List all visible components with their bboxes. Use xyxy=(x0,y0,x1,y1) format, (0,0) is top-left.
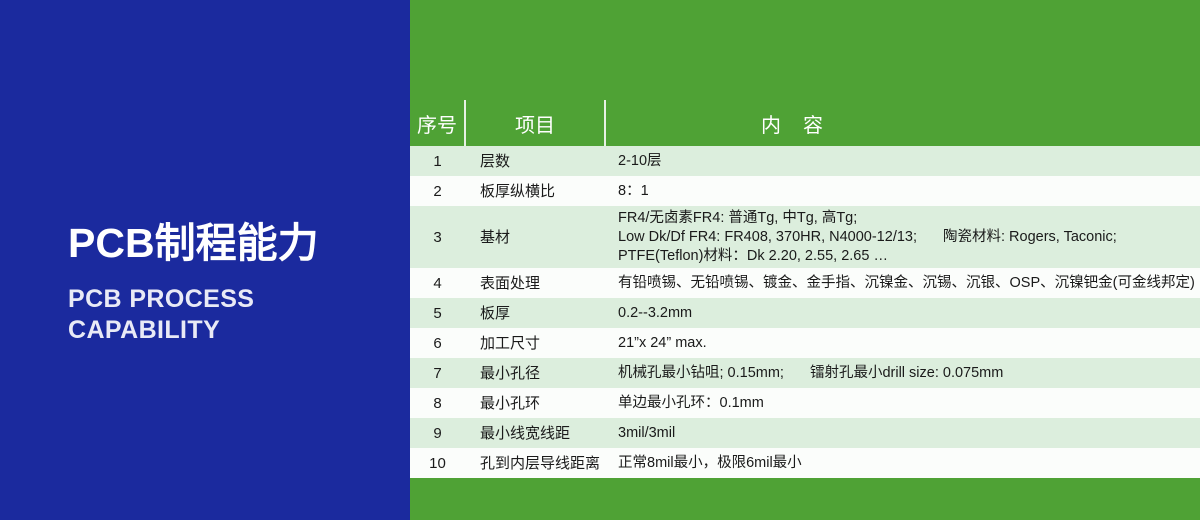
row-item: 基材 xyxy=(465,206,605,268)
row-no: 9 xyxy=(410,418,465,448)
row-content: 机械孔最小钻咀; 0.15mm;镭射孔最小drill size: 0.075mm xyxy=(605,358,1200,388)
row-no: 3 xyxy=(410,206,465,268)
title-block: PCB制程能力 PCB PROCESS CAPABILITY xyxy=(68,218,398,346)
row-content: 21”x 24” max. xyxy=(605,328,1200,358)
row-no: 7 xyxy=(410,358,465,388)
row-content-line: 陶瓷材料: Rogers, Taconic; xyxy=(943,229,1117,245)
row-item: 最小线宽线距 xyxy=(465,418,605,448)
spec-table: 序号 项目 内容 1 层数 2-10层 2 板厚纵横比 8：1 xyxy=(410,100,1200,478)
table-row: 6 加工尺寸 21”x 24” max. xyxy=(410,328,1200,358)
row-content-line: 21”x 24” max. xyxy=(618,334,1196,353)
row-content: 2-10层 xyxy=(605,146,1200,176)
row-content-line: 2-10层 xyxy=(618,152,1196,171)
row-item: 最小孔径 xyxy=(465,358,605,388)
column-header-no: 序号 xyxy=(410,100,465,146)
row-no: 2 xyxy=(410,176,465,206)
row-content-line: 3mil/3mil xyxy=(618,424,1196,443)
page-title-en: PCB PROCESS CAPABILITY xyxy=(68,284,398,346)
row-no: 10 xyxy=(410,448,465,478)
row-content-line: 镭射孔最小drill size: 0.075mm xyxy=(810,365,1003,381)
row-content: FR4/无卤素FR4: 普通Tg, 中Tg, 高Tg; Low Dk/Df FR… xyxy=(605,206,1200,268)
row-no: 6 xyxy=(410,328,465,358)
table-row: 2 板厚纵横比 8：1 xyxy=(410,176,1200,206)
row-content: 3mil/3mil xyxy=(605,418,1200,448)
table-row: 1 层数 2-10层 xyxy=(410,146,1200,176)
row-content-line: 有铅喷锡、无铅喷锡、镀金、金手指、沉镍金、沉锡、沉银、OSP、沉镍钯金(可金线邦… xyxy=(618,274,1196,293)
row-no: 8 xyxy=(410,388,465,418)
column-header-content: 内容 xyxy=(605,100,1200,146)
row-content-line: 8：1 xyxy=(618,182,1196,201)
table-row: 10 孔到内层导线距离 正常8mil最小，极限6mil最小 xyxy=(410,448,1200,478)
row-content-line-group: Low Dk/Df FR4: FR408, 370HR, N4000-12/13… xyxy=(618,228,1196,247)
row-content: 0.2--3.2mm xyxy=(605,298,1200,328)
table-row: 9 最小线宽线距 3mil/3mil xyxy=(410,418,1200,448)
page-title-en-line2: CAPABILITY xyxy=(68,315,398,346)
row-item: 表面处理 xyxy=(465,268,605,298)
row-content: 有铅喷锡、无铅喷锡、镀金、金手指、沉镍金、沉锡、沉银、OSP、沉镍钯金(可金线邦… xyxy=(605,268,1200,298)
row-content-line-group: 机械孔最小钻咀; 0.15mm;镭射孔最小drill size: 0.075mm xyxy=(618,364,1196,383)
table-row: 4 表面处理 有铅喷锡、无铅喷锡、镀金、金手指、沉镍金、沉锡、沉银、OSP、沉镍… xyxy=(410,268,1200,298)
row-content: 8：1 xyxy=(605,176,1200,206)
row-content-line: PTFE(Teflon)材料：Dk 2.20, 2.55, 2.65 … xyxy=(618,247,1196,266)
slide-root: PCB制程能力 PCB PROCESS CAPABILITY 序号 项目 内容 xyxy=(0,0,1200,520)
spec-table-wrapper: 序号 项目 内容 1 层数 2-10层 2 板厚纵横比 8：1 xyxy=(410,100,1200,478)
row-item: 板厚纵横比 xyxy=(465,176,605,206)
left-title-panel: PCB制程能力 PCB PROCESS CAPABILITY xyxy=(0,0,410,520)
spec-table-body: 1 层数 2-10层 2 板厚纵横比 8：1 3 基材 xyxy=(410,146,1200,478)
row-item: 最小孔环 xyxy=(465,388,605,418)
row-content-line: 单边最小孔环：0.1mm xyxy=(618,394,1196,413)
row-content: 正常8mil最小，极限6mil最小 xyxy=(605,448,1200,478)
table-row: 5 板厚 0.2--3.2mm xyxy=(410,298,1200,328)
row-no: 4 xyxy=(410,268,465,298)
page-title-cn: PCB制程能力 xyxy=(68,218,398,268)
row-item: 层数 xyxy=(465,146,605,176)
table-row: 8 最小孔环 单边最小孔环：0.1mm xyxy=(410,388,1200,418)
row-content-line: 0.2--3.2mm xyxy=(618,304,1196,323)
row-content: 单边最小孔环：0.1mm xyxy=(605,388,1200,418)
column-header-item: 项目 xyxy=(465,100,605,146)
row-no: 1 xyxy=(410,146,465,176)
row-no: 5 xyxy=(410,298,465,328)
row-content-line: FR4/无卤素FR4: 普通Tg, 中Tg, 高Tg; xyxy=(618,209,1196,228)
row-item: 加工尺寸 xyxy=(465,328,605,358)
column-header-content-part2: 容 xyxy=(803,115,823,137)
row-item: 板厚 xyxy=(465,298,605,328)
table-row: 7 最小孔径 机械孔最小钻咀; 0.15mm;镭射孔最小drill size: … xyxy=(410,358,1200,388)
column-header-content-part1: 内 xyxy=(761,115,781,137)
row-item: 孔到内层导线距离 xyxy=(465,448,605,478)
row-content-line: Low Dk/Df FR4: FR408, 370HR, N4000-12/13… xyxy=(618,229,917,245)
table-header-row: 序号 项目 内容 xyxy=(410,100,1200,146)
row-content-line: 机械孔最小钻咀; 0.15mm; xyxy=(618,365,784,381)
row-content-line: 正常8mil最小，极限6mil最小 xyxy=(618,454,1196,473)
page-title-en-line1: PCB PROCESS xyxy=(68,284,398,315)
table-row: 3 基材 FR4/无卤素FR4: 普通Tg, 中Tg, 高Tg; Low Dk/… xyxy=(410,206,1200,268)
spec-table-head: 序号 项目 内容 xyxy=(410,100,1200,146)
